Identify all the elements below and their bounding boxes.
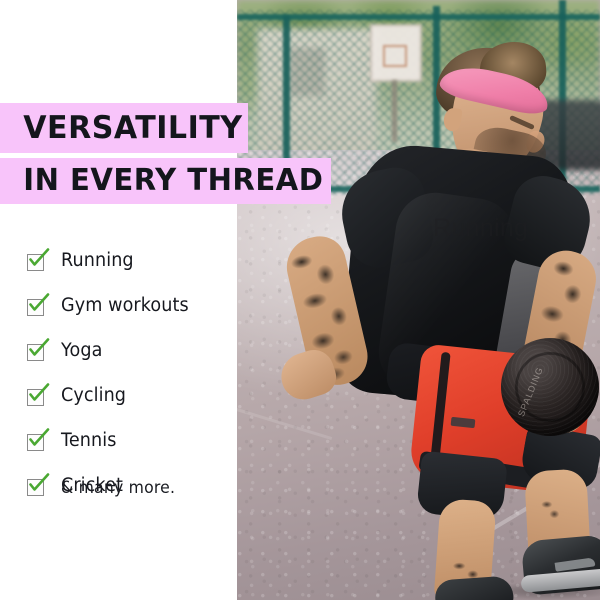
headline-band-1: VERSATILITY: [0, 103, 248, 153]
checkbox-checked-icon: [26, 250, 48, 272]
feature-label: Cycling: [61, 385, 126, 406]
feature-label: Running: [61, 250, 134, 271]
athlete-figure: SPALDING: [237, 0, 600, 600]
leg-right-tattoo: [537, 498, 565, 524]
feature-item-yoga: Yoga: [26, 328, 236, 373]
poster-canvas: SPALDING Running VERSATILITY IN EVERY TH…: [0, 0, 600, 600]
feature-item-cycling: Cycling: [26, 373, 236, 418]
athlete-photo: SPALDING Running: [237, 0, 600, 600]
feature-footnote: & many more.: [61, 478, 175, 497]
feature-item-gym-workouts: Gym workouts: [26, 283, 236, 328]
checkbox-checked-icon: [26, 430, 48, 452]
feature-label: Yoga: [61, 340, 102, 361]
feature-list: Running Gym workouts Yoga Cycling: [26, 238, 236, 508]
basketball-seams: [501, 338, 599, 436]
feature-label: Tennis: [61, 430, 116, 451]
headline-line-1: VERSATILITY: [0, 113, 243, 144]
headline-band-2: IN EVERY THREAD: [0, 158, 331, 204]
checkbox-checked-icon: [26, 295, 48, 317]
feature-label: Gym workouts: [61, 295, 189, 316]
checkbox-checked-icon: [26, 385, 48, 407]
checkbox-checked-icon: [26, 340, 48, 362]
headline-line-2: IN EVERY THREAD: [0, 166, 323, 196]
checkbox-checked-icon: [26, 475, 48, 497]
feature-item-tennis: Tennis: [26, 418, 236, 463]
feature-item-running: Running: [26, 238, 236, 283]
